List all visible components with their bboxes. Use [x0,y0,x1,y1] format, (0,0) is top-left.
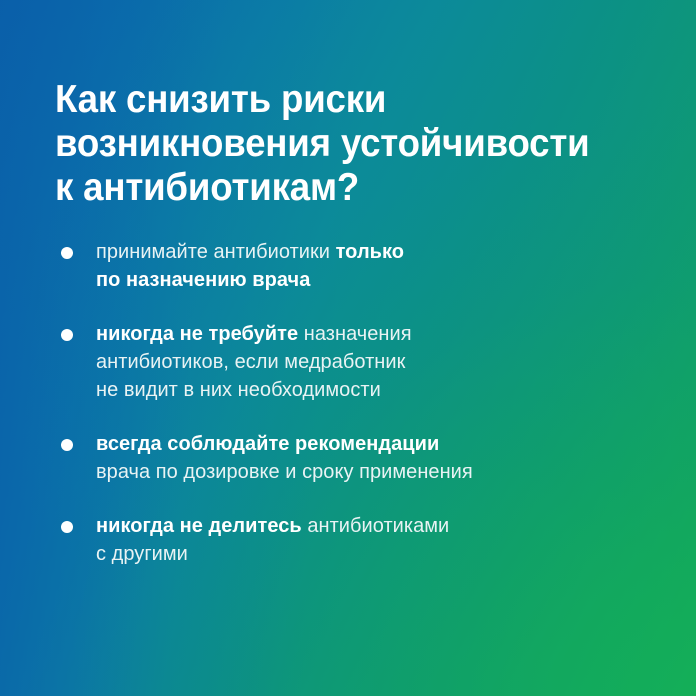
list-item: никогда не делитесь антибиотиками с друг… [55,512,675,568]
bullet-dot-icon [61,329,73,341]
list-item: всегда соблюдайте рекомендации врача по … [55,430,675,486]
poster-title: Как снизить риски возникновения устойчив… [55,78,638,210]
bullet-dot-icon [61,439,73,451]
poster-content: Как снизить риски возникновения устойчив… [0,0,696,696]
recommendation-list: принимайте антибиотики только по назначе… [55,238,675,568]
bullet-dot-icon [61,247,73,259]
list-item-text: никогда не делитесь антибиотиками с друг… [96,512,661,568]
list-item: никогда не требуйте назначения антибиоти… [55,320,675,404]
list-item-text: всегда соблюдайте рекомендации врача по … [96,430,661,486]
list-item: принимайте антибиотики только по назначе… [55,238,675,294]
infographic-poster: Как снизить риски возникновения устойчив… [0,0,696,696]
list-item-text: никогда не требуйте назначения антибиоти… [96,320,661,404]
list-item-text: принимайте антибиотики только по назначе… [96,238,661,294]
bullet-dot-icon [61,521,73,533]
